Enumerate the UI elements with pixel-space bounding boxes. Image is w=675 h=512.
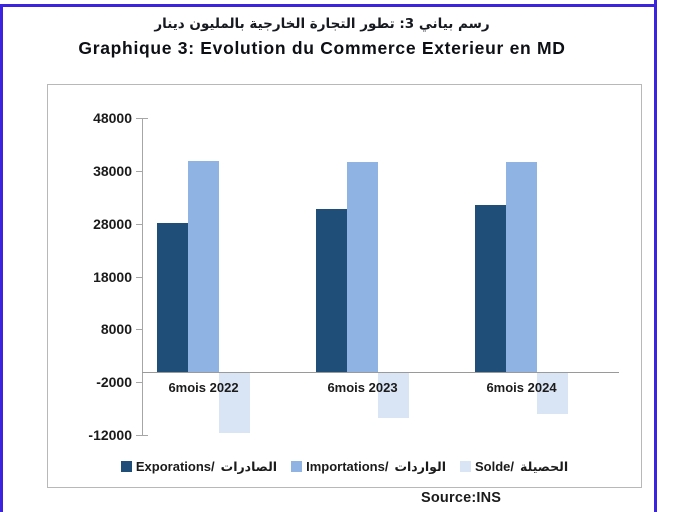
page-rule-right — [654, 0, 657, 512]
chart-legend: Exporations/ الصادرات Importations/ الوا… — [58, 453, 631, 479]
value-axis-cap-top — [142, 118, 148, 119]
y-axis-label: 38000 — [46, 163, 132, 179]
value-axis-line — [142, 118, 143, 435]
bar-8FB4E3 — [188, 161, 219, 371]
bar-1F4E79 — [157, 223, 188, 372]
bar-1F4E79 — [316, 209, 347, 372]
y-axis-label: 8000 — [46, 321, 132, 337]
legend-label-imports-fr: Importations/ — [306, 459, 388, 474]
chart-page: رسم بياني 3: تطور التجارة الخارجية بالمل… — [0, 0, 675, 512]
category-axis-line — [142, 372, 619, 373]
y-tick — [136, 118, 142, 119]
y-axis-label: 28000 — [46, 216, 132, 232]
legend-label-solde-ar: الحصيلة — [520, 459, 568, 474]
chart-title-arabic: رسم بياني 3: تطور التجارة الخارجية بالمل… — [12, 14, 632, 34]
category-label: 6mois 2024 — [486, 380, 556, 395]
legend-item-imports[interactable]: Importations/ الواردات — [291, 459, 446, 474]
bar-D9E5F4 — [378, 372, 409, 418]
page-rule-left — [0, 4, 3, 512]
legend-item-solde[interactable]: Solde/ الحصيلة — [460, 459, 568, 474]
legend-label-exports-ar: الصادرات — [221, 459, 277, 474]
y-tick — [136, 435, 142, 436]
y-axis-label: 48000 — [46, 110, 132, 126]
chart-title-french: Graphique 3: Evolution du Commerce Exter… — [12, 37, 632, 59]
legend-swatch-solde-icon — [460, 461, 471, 472]
page-rule-top — [0, 4, 657, 7]
y-axis-label: 18000 — [46, 269, 132, 285]
plot-area: 480003800028000180008000-2000-12000 6moi… — [142, 118, 619, 435]
y-tick — [136, 171, 142, 172]
legend-label-solde-fr: Solde/ — [475, 459, 514, 474]
legend-label-exports-fr: Exporations/ — [136, 459, 215, 474]
legend-swatch-exports-icon — [121, 461, 132, 472]
bar-1F4E79 — [475, 205, 506, 371]
y-tick — [136, 224, 142, 225]
legend-item-exports[interactable]: Exporations/ الصادرات — [121, 459, 277, 474]
bar-8FB4E3 — [347, 162, 378, 371]
chart-title-block: رسم بياني 3: تطور التجارة الخارجية بالمل… — [12, 14, 632, 59]
category-label: 6mois 2023 — [327, 380, 397, 395]
y-tick — [136, 329, 142, 330]
value-axis-cap-bottom — [142, 435, 148, 436]
y-axis-label: -12000 — [46, 427, 132, 443]
legend-swatch-imports-icon — [291, 461, 302, 472]
y-tick — [136, 382, 142, 383]
chart-frame: 480003800028000180008000-2000-12000 6moi… — [47, 84, 642, 488]
y-tick — [136, 277, 142, 278]
source-note: Source:INS — [421, 490, 501, 506]
legend-label-imports-ar: الواردات — [394, 459, 446, 474]
y-axis-label: -2000 — [46, 374, 132, 390]
category-label: 6mois 2022 — [168, 380, 238, 395]
bar-8FB4E3 — [506, 162, 537, 371]
